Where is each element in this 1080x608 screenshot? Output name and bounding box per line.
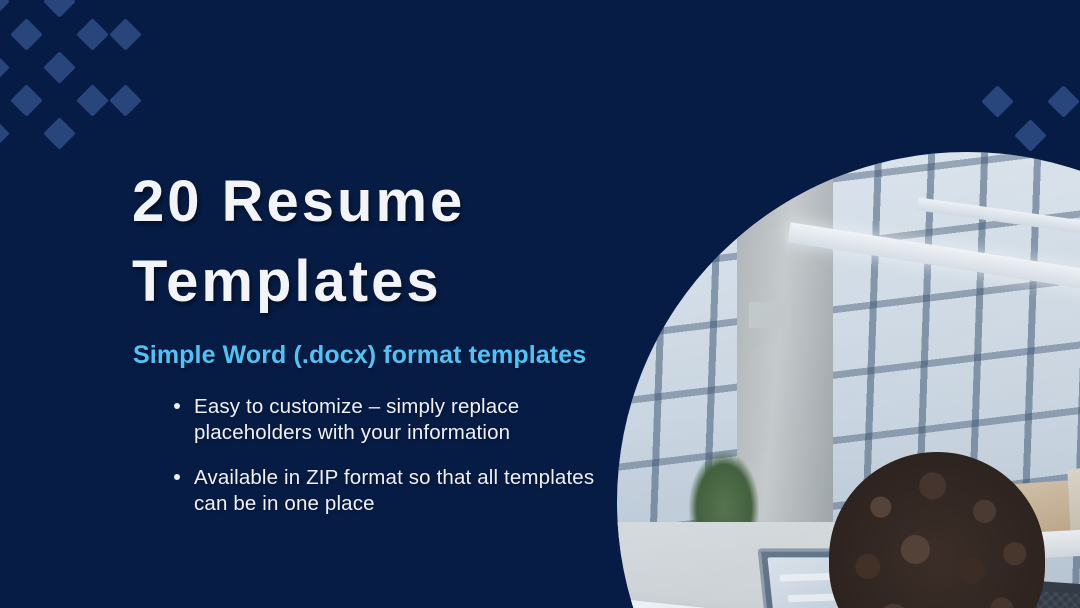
diamond-shape: [1047, 85, 1080, 118]
title-line-1: 20 Resume: [132, 162, 652, 242]
subtitle: Simple Word (.docx) format templates: [133, 341, 586, 370]
diamond-shape: [1014, 119, 1047, 152]
bullet-list: Easy to customize – simply replace place…: [172, 394, 622, 536]
page-title: 20 Resume Templates: [132, 162, 652, 322]
diamond-shape: [981, 85, 1014, 118]
list-item: Available in ZIP format so that all temp…: [172, 465, 622, 517]
bullet-text: Easy to customize – simply replace place…: [194, 394, 622, 446]
text-content: 20 Resume Templates Simple Word (.docx) …: [0, 0, 680, 608]
list-item: Easy to customize – simply replace place…: [172, 394, 622, 446]
photo-color-tint: [617, 152, 1080, 608]
office-photo-image: [617, 152, 1080, 608]
bullet-text: Available in ZIP format so that all temp…: [194, 465, 622, 517]
office-photo: [617, 152, 1080, 608]
slide-canvas: 20 Resume Templates Simple Word (.docx) …: [0, 0, 1080, 608]
title-line-2: Templates: [132, 242, 652, 322]
